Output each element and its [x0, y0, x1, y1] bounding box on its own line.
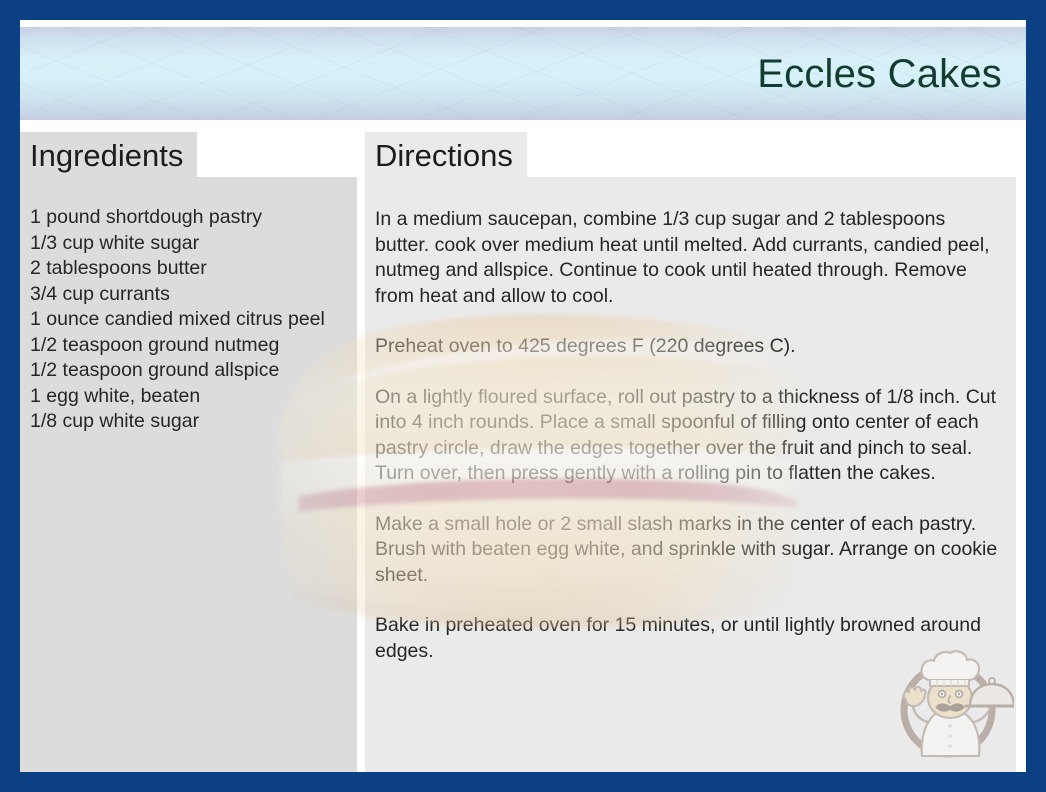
recipe-card: Eccles Cakes [0, 0, 1046, 792]
list-item: 3/4 cup currants [30, 282, 347, 308]
list-item: 1/3 cup white sugar [30, 231, 347, 257]
page-title: Eccles Cakes [757, 54, 1002, 94]
list-item: 1 egg white, beaten [30, 384, 347, 410]
direction-paragraph: In a medium saucepan, combine 1/3 cup su… [375, 207, 1002, 309]
list-item: 1/2 teaspoon ground nutmeg [30, 333, 347, 359]
directions-text: In a medium saucepan, combine 1/3 cup su… [365, 177, 1016, 772]
ingredients-list: 1 pound shortdough pastry 1/3 cup white … [20, 177, 357, 772]
direction-paragraph: Make a small hole or 2 small slash marks… [375, 512, 1002, 589]
list-item: 1/8 cup white sugar [30, 409, 347, 435]
directions-heading: Directions [365, 132, 527, 177]
list-item: 1/2 teaspoon ground allspice [30, 358, 347, 384]
header-banner: Eccles Cakes [20, 27, 1026, 120]
direction-paragraph: Bake in preheated oven for 15 minutes, o… [375, 613, 1002, 664]
list-item: 1 ounce candied mixed citrus peel [30, 307, 347, 333]
ingredients-heading: Ingredients [20, 132, 197, 177]
direction-paragraph: Preheat oven to 425 degrees F (220 degre… [375, 334, 1002, 360]
list-item: 1 pound shortdough pastry [30, 205, 347, 231]
list-item: 2 tablespoons butter [30, 256, 347, 282]
direction-paragraph: On a lightly floured surface, roll out p… [375, 385, 1002, 487]
